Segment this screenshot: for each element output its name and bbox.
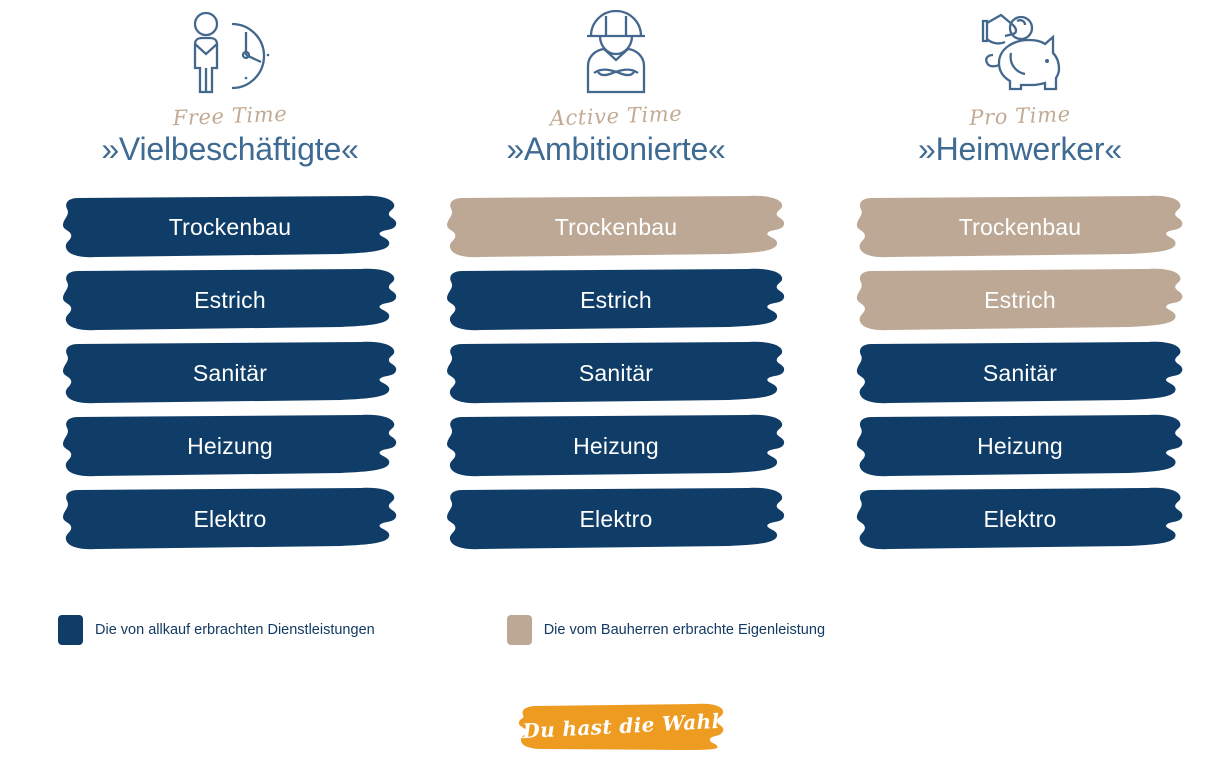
bar-label: Estrich <box>58 266 402 338</box>
comparison-infographic: Free Time »Vielbeschäftigte« Trockenbau … <box>0 0 1228 783</box>
legend-swatch-navy <box>58 615 83 645</box>
bar-elektro[interactable]: Elektro <box>442 485 790 557</box>
legend: Die von allkauf erbrachten Dienstleistun… <box>58 615 825 645</box>
bar-elektro[interactable]: Elektro <box>852 485 1188 557</box>
column-title: »Vielbeschäftigte« <box>58 133 402 167</box>
bar-estrich[interactable]: Estrich <box>58 266 402 338</box>
legend-label: Die vom Bauherren erbrachte Eigenleistun… <box>544 622 825 638</box>
bar-heizung[interactable]: Heizung <box>852 412 1188 484</box>
bar-label: Trockenbau <box>852 193 1188 265</box>
package-column-ambitionierte: Active Time »Ambitionierte« Trockenbau E… <box>410 0 800 580</box>
bar-label: Elektro <box>852 485 1188 557</box>
bar-sanitaer[interactable]: Sanitär <box>58 339 402 411</box>
bar-label: Heizung <box>852 412 1188 484</box>
bar-label: Elektro <box>442 485 790 557</box>
bar-estrich[interactable]: Estrich <box>852 266 1188 338</box>
legend-item-service: Die von allkauf erbrachten Dienstleistun… <box>58 615 375 645</box>
bar-label: Sanitär <box>852 339 1188 411</box>
bar-label: Elektro <box>58 485 402 557</box>
bar-sanitaer[interactable]: Sanitär <box>442 339 790 411</box>
package-column-heimwerker: Pro Time »Heimwerker« Trockenbau Estrich <box>800 0 1228 580</box>
column-title: »Ambitionierte« <box>442 133 790 167</box>
bar-trockenbau[interactable]: Trockenbau <box>852 193 1188 265</box>
bar-heizung[interactable]: Heizung <box>442 412 790 484</box>
bar-label: Estrich <box>852 266 1188 338</box>
bar-list: Trockenbau Estrich Sanitär <box>852 193 1188 557</box>
bar-elektro[interactable]: Elektro <box>58 485 402 557</box>
bar-list: Trockenbau Estrich Sanitär <box>58 193 402 557</box>
package-columns: Free Time »Vielbeschäftigte« Trockenbau … <box>0 0 1228 580</box>
legend-item-own-work: Die vom Bauherren erbrachte Eigenleistun… <box>507 615 825 645</box>
bar-list: Trockenbau Estrich Sanitär <box>442 193 790 557</box>
bar-label: Sanitär <box>442 339 790 411</box>
legend-swatch-beige <box>507 615 532 645</box>
bar-label: Sanitär <box>58 339 402 411</box>
bar-estrich[interactable]: Estrich <box>442 266 790 338</box>
worker-helmet-icon <box>442 0 790 106</box>
bar-trockenbau[interactable]: Trockenbau <box>442 193 790 265</box>
bar-label: Trockenbau <box>58 193 402 265</box>
person-clock-icon <box>58 0 402 106</box>
bar-label: Estrich <box>442 266 790 338</box>
choice-badge[interactable]: Du hast die Wahl <box>516 703 726 751</box>
bar-label: Heizung <box>442 412 790 484</box>
legend-label: Die von allkauf erbrachten Dienstleistun… <box>95 622 375 638</box>
bar-label: Heizung <box>58 412 402 484</box>
package-column-vielbeschaeftigte: Free Time »Vielbeschäftigte« Trockenbau … <box>0 0 410 580</box>
piggy-bank-icon <box>852 0 1188 106</box>
bar-label: Trockenbau <box>442 193 790 265</box>
bar-trockenbau[interactable]: Trockenbau <box>58 193 402 265</box>
bar-heizung[interactable]: Heizung <box>58 412 402 484</box>
column-title: »Heimwerker« <box>852 133 1188 167</box>
bar-sanitaer[interactable]: Sanitär <box>852 339 1188 411</box>
